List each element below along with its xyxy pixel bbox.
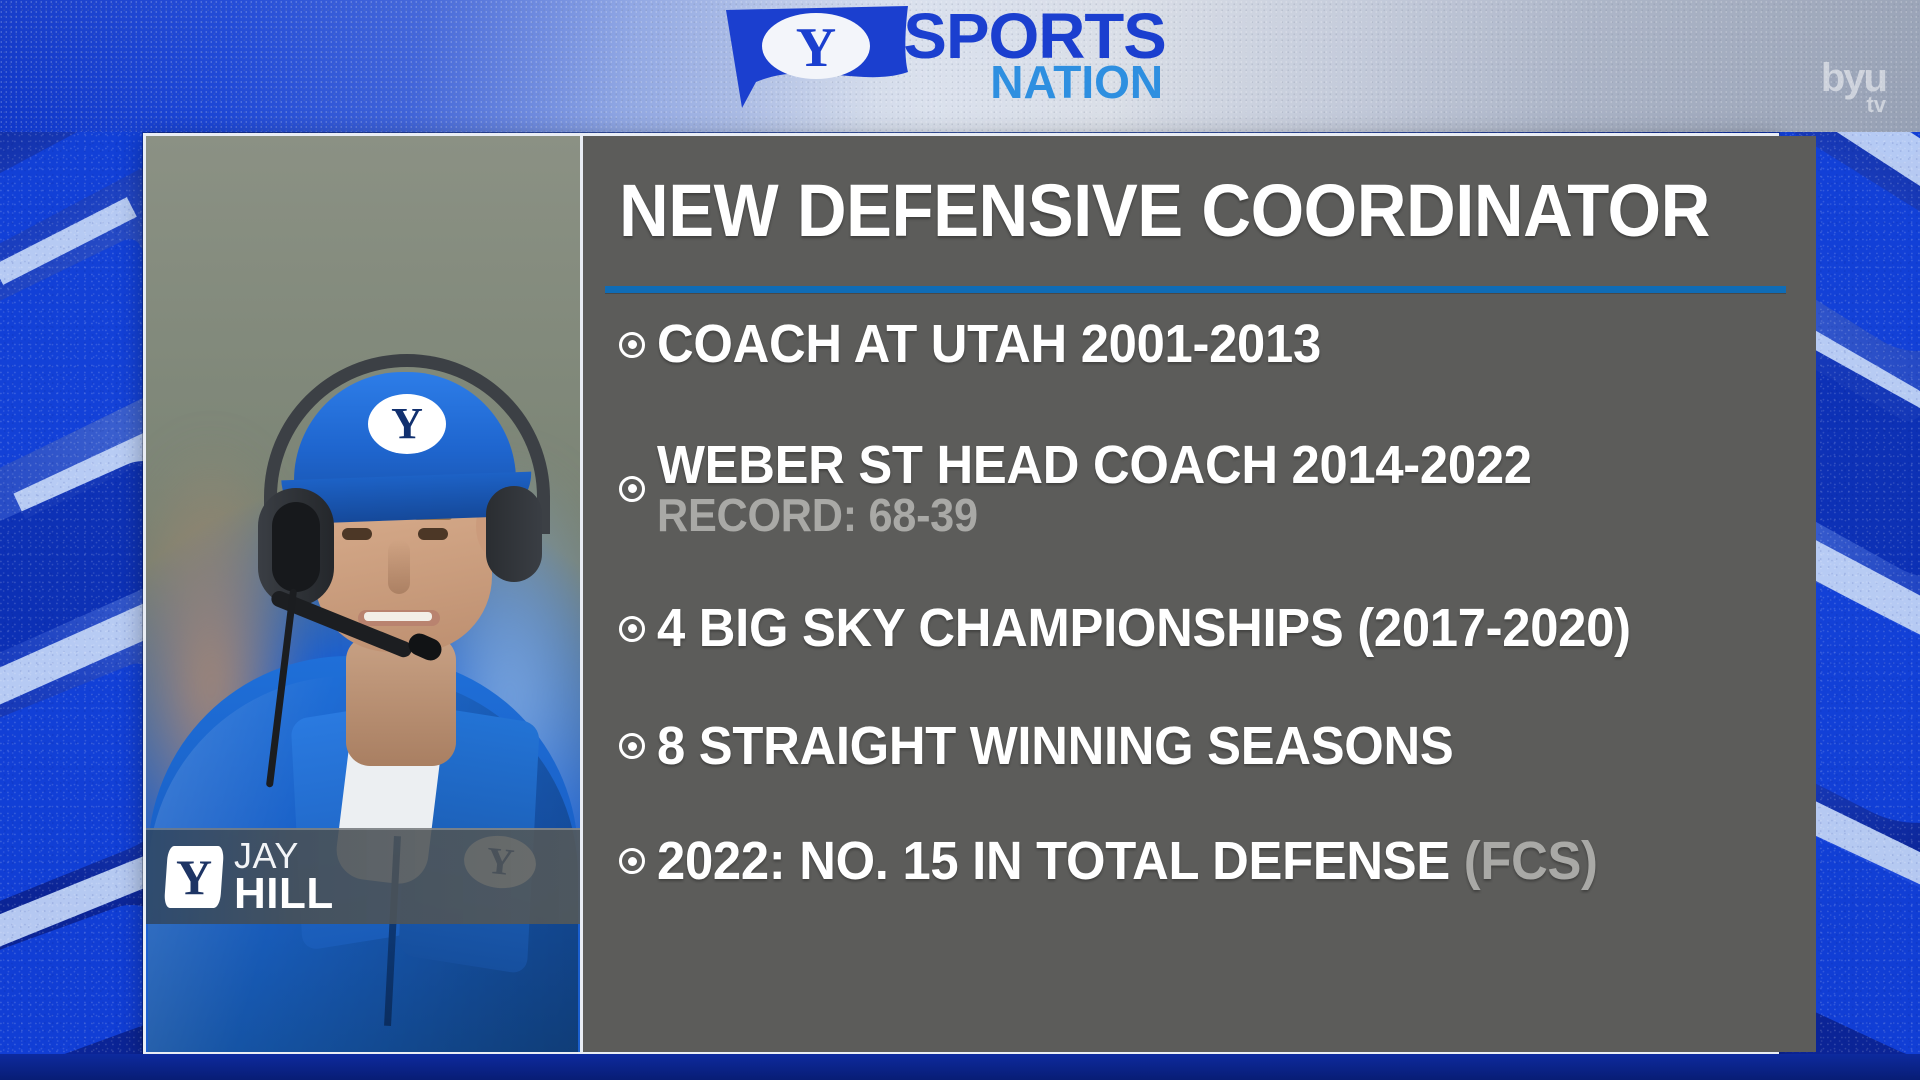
bullet-target-icon [619, 733, 645, 759]
bullet-text: WEBER ST HEAD COACH 2014-2022 [657, 438, 1532, 493]
nameplate: Y JAY HILL [146, 828, 583, 924]
list-item: 8 STRAIGHT WINNING SEASONS [605, 719, 1792, 774]
card-content: NEW DEFENSIVE COORDINATOR COACH AT UTAH … [583, 136, 1816, 1052]
broadcast-graphic-stage: Y SPORTS NATION byu tv Y [0, 0, 1920, 1080]
title-divider [605, 286, 1786, 293]
byu-flag-logo: Y [712, 4, 912, 108]
bottom-blue-bar [0, 1054, 1920, 1080]
bullet-target-icon [619, 332, 645, 358]
bullet-text-tail: (FCS) [1464, 831, 1598, 891]
info-card: Y Y [143, 133, 1779, 1055]
bullet-target-icon [619, 476, 645, 502]
bullet-target-icon [619, 616, 645, 642]
headset-earcup-right [486, 486, 542, 582]
bullet-target-icon [619, 848, 645, 874]
list-item: WEBER ST HEAD COACH 2014-2022 RECORD: 68… [605, 438, 1792, 539]
nameplate-byu-logo: Y [162, 842, 226, 912]
bullet-text: 8 STRAIGHT WINNING SEASONS [657, 719, 1453, 774]
list-item: 2022: NO. 15 IN TOTAL DEFENSE (FCS) [605, 834, 1792, 889]
bullet-subtext: RECORD: 68-39 [657, 491, 1532, 539]
nameplate-logo-letter: Y [176, 852, 212, 902]
coach-nose [388, 540, 410, 594]
bullet-text-main: 2022: NO. 15 IN TOTAL DEFENSE [657, 831, 1464, 891]
headset-earcup-left-inner [272, 502, 320, 592]
bullet-text: COACH AT UTAH 2001-2013 [657, 317, 1321, 372]
bullet-list: COACH AT UTAH 2001-2013 WEBER ST HEAD CO… [605, 317, 1792, 889]
bullet-text: 2022: NO. 15 IN TOTAL DEFENSE (FCS) [657, 834, 1598, 889]
coach-teeth [364, 612, 432, 621]
nameplate-last-name: HILL [234, 874, 334, 914]
logo-sports-text: SPORTS [903, 11, 1165, 62]
sports-nation-logo: Y SPORTS NATION [712, 2, 1163, 110]
page-title: NEW DEFENSIVE COORDINATOR [619, 174, 1710, 248]
list-item: COACH AT UTAH 2001-2013 [605, 317, 1792, 372]
nameplate-text: JAY HILL [234, 839, 334, 915]
nameplate-first-name: JAY [234, 839, 334, 872]
coach-photo-panel: Y Y [146, 136, 583, 1052]
bullet-text: 4 BIG SKY CHAMPIONSHIPS (2017-2020) [657, 601, 1631, 656]
sports-nation-wordmark: SPORTS NATION [906, 11, 1163, 101]
byutv-watermark: byu tv [1821, 58, 1886, 116]
svg-text:Y: Y [796, 17, 836, 79]
list-item: 4 BIG SKY CHAMPIONSHIPS (2017-2020) [605, 601, 1792, 656]
